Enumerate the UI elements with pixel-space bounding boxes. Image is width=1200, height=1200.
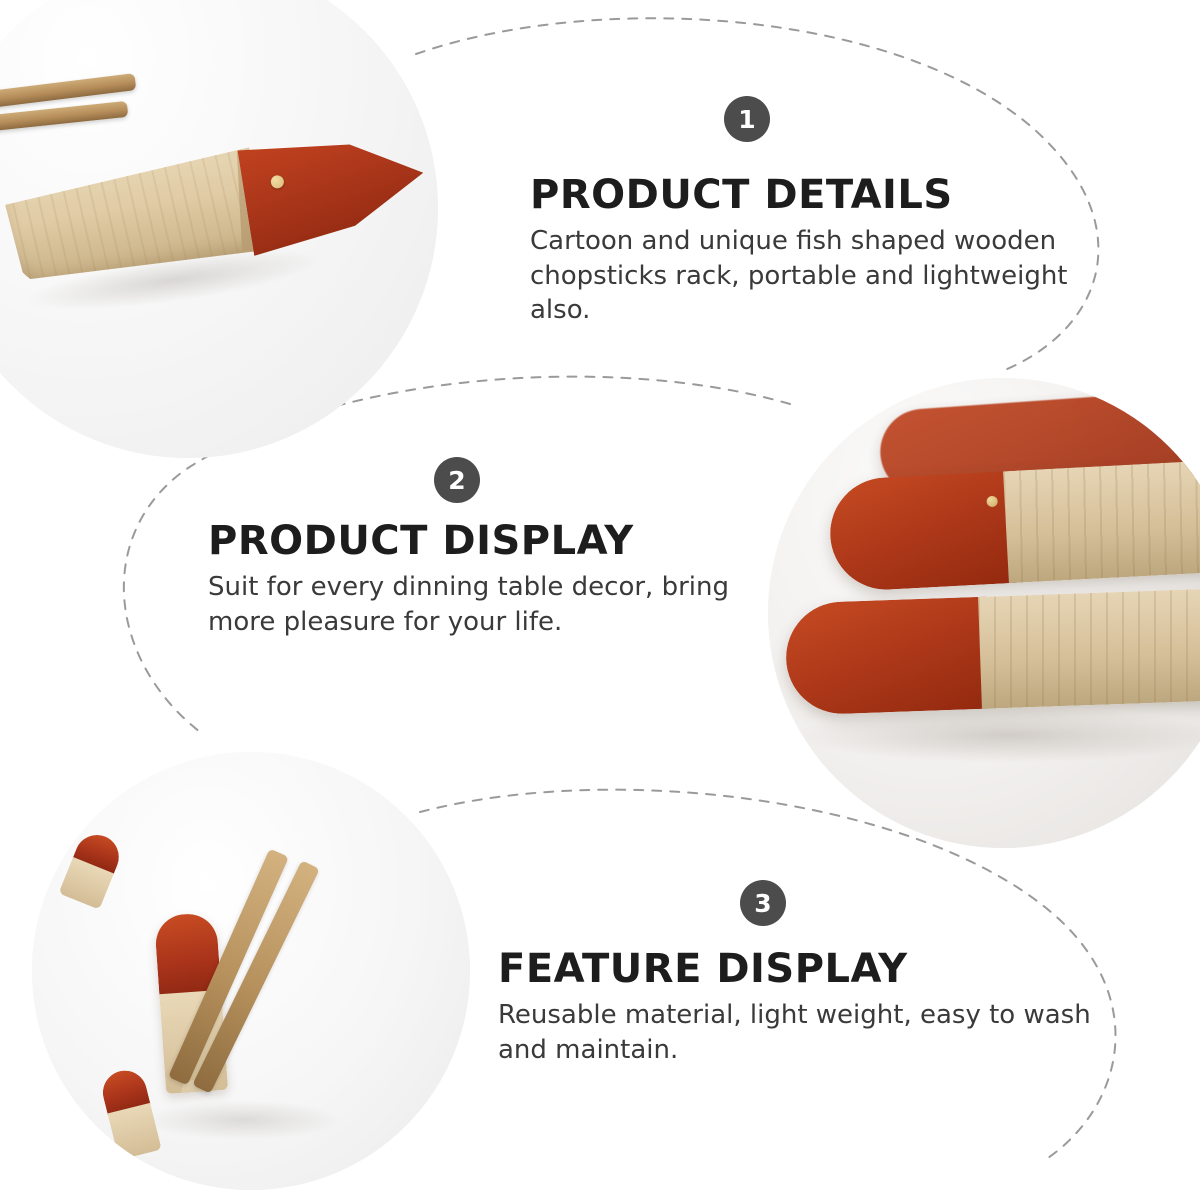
section-2-body: Suit for every dinning table decor, brin…	[208, 570, 768, 639]
step-badge-2: 2	[434, 457, 480, 503]
fish-rest-top	[827, 460, 1200, 593]
step-badge-3: 3	[740, 880, 786, 926]
section-3-title: FEATURE DISPLAY	[498, 946, 1098, 992]
section-3-body: Reusable material, light weight, easy to…	[498, 998, 1098, 1067]
section-1-body: Cartoon and unique fish shaped wooden ch…	[530, 224, 1090, 328]
product-photo-1	[0, 0, 438, 458]
section-2-title: PRODUCT DISPLAY	[208, 518, 768, 564]
section-1-text: PRODUCT DETAILS Cartoon and unique fish …	[530, 172, 1090, 328]
product-infographic-page: 1 2 3 PRODUCT DETAILS Cartoon and unique…	[0, 0, 1200, 1200]
step-badge-1: 1	[724, 96, 770, 142]
section-1-title: PRODUCT DETAILS	[530, 172, 1090, 218]
product-photo-2	[768, 378, 1200, 848]
section-3-text: FEATURE DISPLAY Reusable material, light…	[498, 946, 1098, 1067]
section-2-text: PRODUCT DISPLAY Suit for every dinning t…	[208, 518, 768, 639]
fish-rest-bottom	[784, 588, 1200, 715]
product-photo-3	[32, 752, 470, 1190]
